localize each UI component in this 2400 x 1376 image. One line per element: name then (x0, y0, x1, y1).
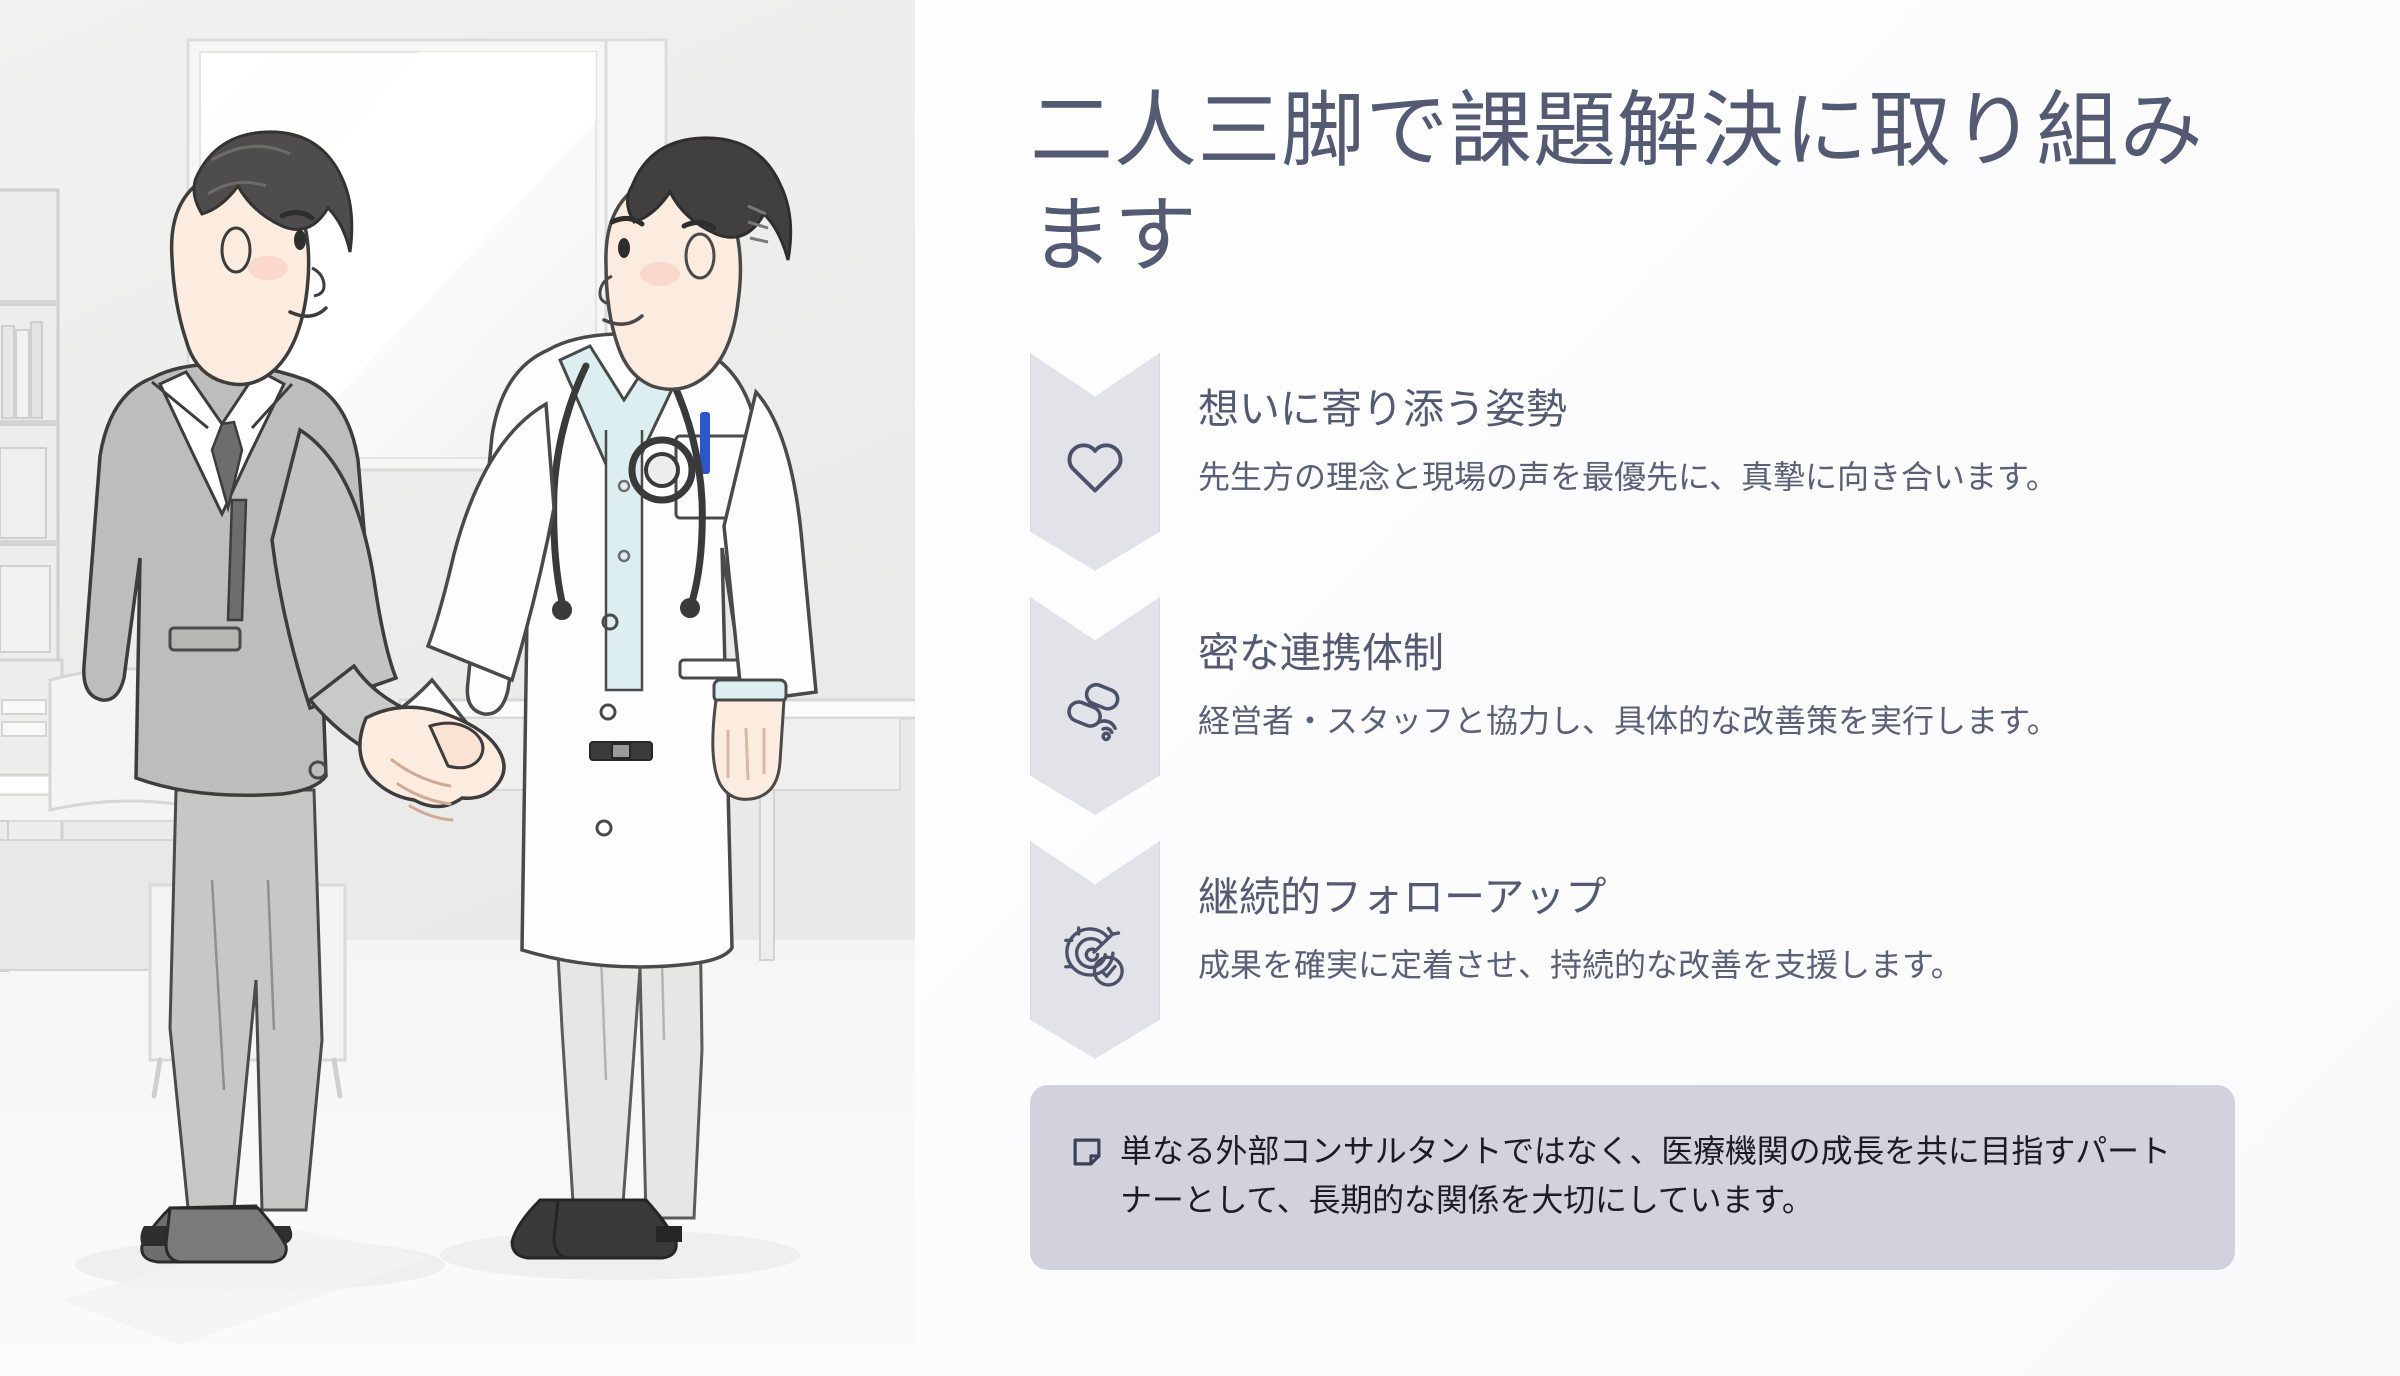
feature-heading-1: 想いに寄り添う姿勢 (1198, 385, 2058, 434)
feature-desc-1: 先生方の理念と現場の声を最優先に、真摯に向き合います。 (1198, 456, 2058, 499)
feature-list: 想いに寄り添う姿勢 先生方の理念と現場の声を最優先に、真摯に向き合います。 (1030, 353, 2305, 1059)
feature-text-1: 想いに寄り添う姿勢 先生方の理念と現場の声を最優先に、真摯に向き合います。 (1198, 353, 2058, 499)
note-box: 単なる外部コンサルタントではなく、医療機関の成長を共に目指すパートナーとして、長… (1030, 1085, 2235, 1270)
feature-badge-2 (1030, 597, 1160, 815)
content-panel: 二人三脚で課題解決に取り組みます 想いに寄り添う姿勢 先生方の理念と現場の声を最… (915, 0, 2400, 1376)
feature-badge-1 (1030, 353, 1160, 571)
feature-text-2: 密な連携体制 経営者・スタッフと協力し、具体的な改善策を実行します。 (1198, 597, 2059, 743)
feature-badge-3 (1030, 841, 1160, 1059)
handshake-illustration (0, 0, 915, 1376)
sticky-note-icon (1068, 1133, 1120, 1171)
slide-root: 二人三脚で課題解決に取り組みます 想いに寄り添う姿勢 先生方の理念と現場の声を最… (0, 0, 2400, 1376)
feature-desc-3: 成果を確実に定着させ、持続的な改善を支援します。 (1198, 944, 1963, 987)
feature-heading-3: 継続的フォローアップ (1198, 873, 1963, 922)
heart-icon (1030, 437, 1160, 495)
feature-desc-2: 経営者・スタッフと協力し、具体的な改善策を実行します。 (1198, 700, 2059, 743)
target-check-icon (1030, 925, 1160, 989)
link-signal-icon (1030, 681, 1160, 743)
feature-text-3: 継続的フォローアップ 成果を確実に定着させ、持続的な改善を支援します。 (1198, 841, 1963, 987)
feature-item-2: 密な連携体制 経営者・スタッフと協力し、具体的な改善策を実行します。 (1030, 597, 2305, 815)
page-title: 二人三脚で課題解決に取り組みます (1030, 78, 2260, 289)
feature-item-3: 継続的フォローアップ 成果を確実に定着させ、持続的な改善を支援します。 (1030, 841, 2305, 1059)
illustration-panel (0, 0, 915, 1376)
note-text: 単なる外部コンサルタントではなく、医療機関の成長を共に目指すパートナーとして、長… (1120, 1127, 2189, 1226)
feature-heading-2: 密な連携体制 (1198, 629, 2059, 678)
feature-item-1: 想いに寄り添う姿勢 先生方の理念と現場の声を最優先に、真摯に向き合います。 (1030, 353, 2305, 571)
